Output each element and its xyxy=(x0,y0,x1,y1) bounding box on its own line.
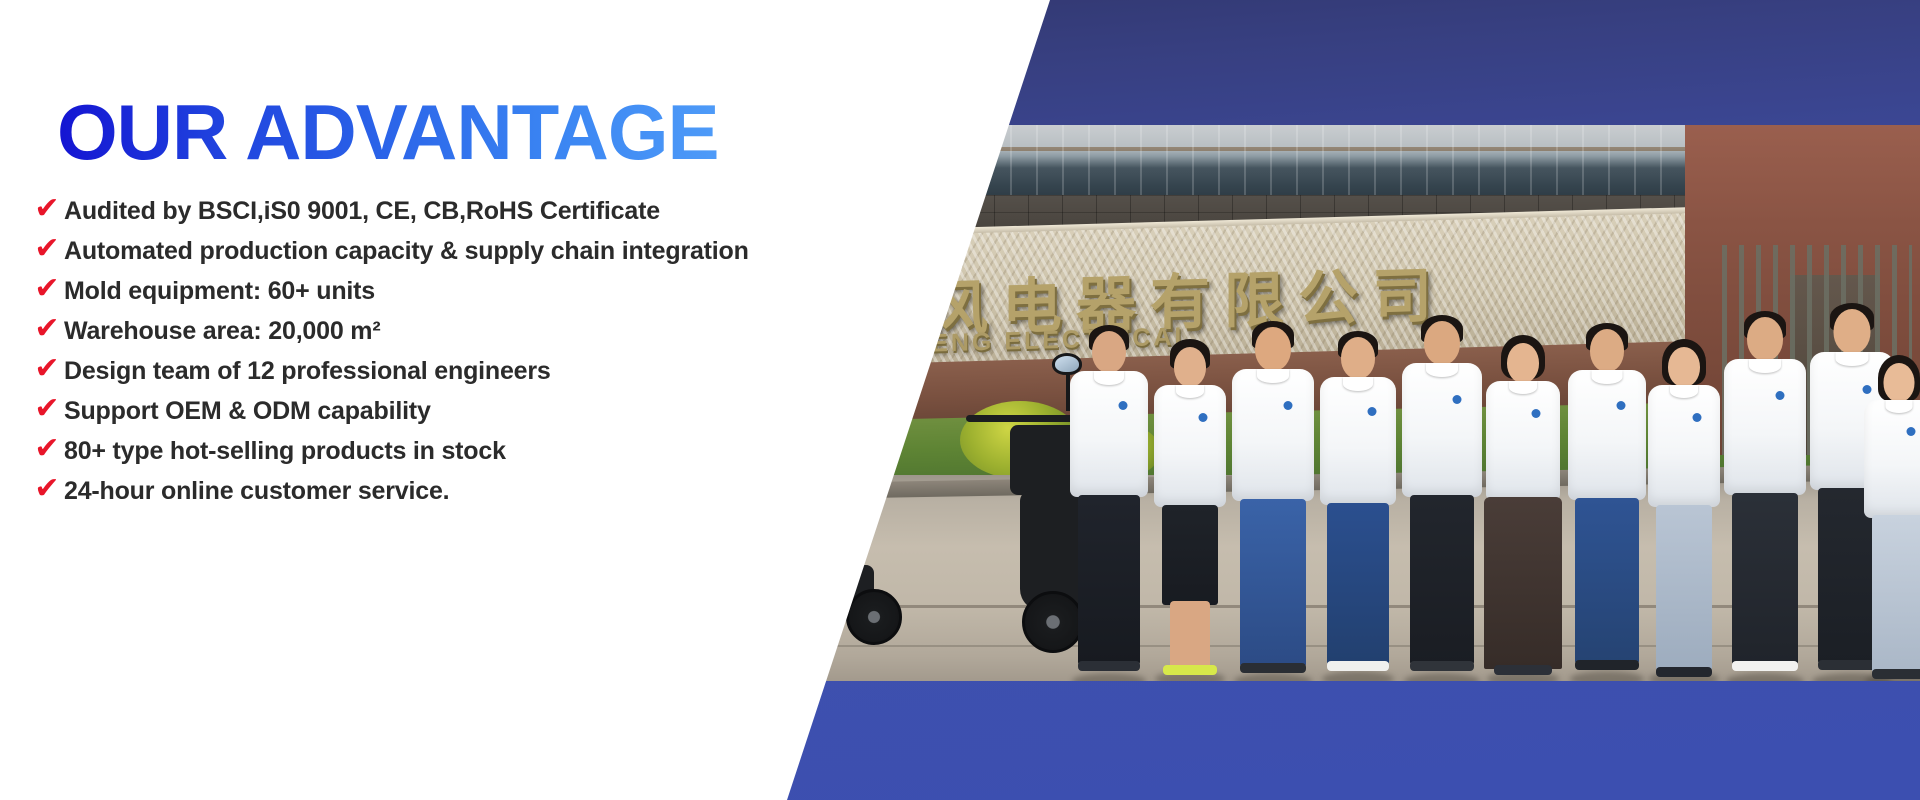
list-item: ✔ Design team of 12 professional enginee… xyxy=(30,353,830,391)
person-shirt xyxy=(1864,400,1920,518)
list-item: ✔ Audited by BSCI,iS0 9001, CE, CB,RoHS … xyxy=(30,193,830,231)
list-item: ✔ Support OEM & ODM capability xyxy=(30,393,830,431)
person-shoes xyxy=(1078,661,1140,671)
check-icon: ✔ xyxy=(30,432,64,466)
person-collar xyxy=(1886,400,1913,413)
person-collar xyxy=(1094,371,1124,385)
person-4 xyxy=(1320,331,1396,681)
person-head xyxy=(1668,347,1700,387)
list-item: ✔ 24-hour online customer service. xyxy=(30,473,830,511)
person-shadow xyxy=(1322,671,1394,681)
check-icon: ✔ xyxy=(30,312,64,346)
person-shadow xyxy=(1072,673,1146,681)
person-shirt xyxy=(1724,359,1806,495)
person-jeans xyxy=(1575,498,1639,664)
person-light-trousers xyxy=(1872,515,1920,673)
person-bare-legs xyxy=(1170,601,1210,669)
person-shirt xyxy=(1402,363,1482,497)
check-icon: ✔ xyxy=(30,352,64,386)
advantage-text: Automated production capacity & supply c… xyxy=(64,233,749,269)
person-shirt xyxy=(1070,371,1148,497)
person-shoes xyxy=(1163,665,1217,675)
advantage-text: 80+ type hot-selling products in stock xyxy=(64,433,506,469)
person-jeans xyxy=(1327,503,1389,665)
advantage-text: Warehouse area: 20,000 m² xyxy=(64,313,380,349)
person-collar xyxy=(1592,370,1623,384)
person-shoes xyxy=(1575,660,1639,670)
advantage-text: Audited by BSCI,iS0 9001, CE, CB,RoHS Ce… xyxy=(64,193,660,229)
person-long-skirt xyxy=(1484,497,1562,669)
check-icon: ✔ xyxy=(30,192,64,226)
advantage-text: Support OEM & ODM capability xyxy=(64,393,431,429)
advantage-text: Design team of 12 professional engineers xyxy=(64,353,551,389)
person-head xyxy=(1834,309,1871,354)
person-shoes xyxy=(1656,667,1712,677)
person-collar xyxy=(1509,381,1537,394)
list-item: ✔ Warehouse area: 20,000 m² xyxy=(30,313,830,351)
person-shoes xyxy=(1494,665,1552,675)
person-7 xyxy=(1568,323,1646,681)
person-collar xyxy=(1257,369,1289,383)
person-shirt-logo xyxy=(1284,401,1293,410)
person-shirt xyxy=(1320,377,1396,505)
person-shirt-logo xyxy=(1532,409,1541,418)
list-item: ✔ Automated production capacity & supply… xyxy=(30,233,830,271)
person-shoes xyxy=(1240,663,1306,673)
person-collar xyxy=(1670,385,1698,398)
person-shadow xyxy=(1570,671,1644,681)
page-title: OUR ADVANTAGE xyxy=(57,93,719,171)
person-shadow xyxy=(1404,673,1480,681)
person-head xyxy=(1590,329,1624,372)
person-1 xyxy=(1070,325,1148,681)
person-head xyxy=(1424,321,1460,365)
person-2 xyxy=(1154,339,1226,681)
person-head xyxy=(1507,343,1539,383)
person-head xyxy=(1255,327,1291,371)
person-shirt xyxy=(1568,370,1646,500)
advantages-list: ✔ Audited by BSCI,iS0 9001, CE, CB,RoHS … xyxy=(30,193,830,513)
person-shoes xyxy=(1327,661,1389,671)
advantage-text: 24-hour online customer service. xyxy=(64,473,449,509)
person-shirt-logo xyxy=(1776,391,1785,400)
person-shirt-logo xyxy=(1199,413,1208,422)
person-head xyxy=(1174,347,1206,387)
person-shirt xyxy=(1648,385,1720,507)
person-shadow xyxy=(1726,673,1804,681)
person-collar xyxy=(1176,385,1204,398)
list-item: ✔ Mold equipment: 60+ units xyxy=(30,273,830,311)
person-shirt-logo xyxy=(1693,413,1702,422)
person-head xyxy=(1747,317,1783,361)
person-head xyxy=(1092,331,1126,373)
person-trousers xyxy=(1732,493,1798,665)
person-collar xyxy=(1343,377,1373,391)
person-shirt-logo xyxy=(1907,427,1916,436)
person-light-trousers xyxy=(1656,505,1712,671)
person-jeans xyxy=(1240,499,1306,667)
list-item: ✔ 80+ type hot-selling products in stock xyxy=(30,433,830,471)
check-icon: ✔ xyxy=(30,392,64,426)
our-advantage-banner: 浙江奥风电器有限公司 ZHEJIANG AOFENG ELECTRICAL xyxy=(0,0,1920,800)
person-head xyxy=(1341,337,1375,379)
person-shirt xyxy=(1154,385,1226,507)
check-icon: ✔ xyxy=(30,472,64,506)
person-6 xyxy=(1486,335,1560,681)
person-trousers xyxy=(1410,495,1474,665)
person-trousers xyxy=(1078,495,1140,665)
person-5 xyxy=(1402,315,1482,681)
person-shadow xyxy=(1234,673,1312,681)
person-shirt-logo xyxy=(1368,407,1377,416)
advantage-text: Mold equipment: 60+ units xyxy=(64,273,375,309)
content-column: OUR ADVANTAGE ✔ Audited by BSCI,iS0 9001… xyxy=(0,0,1000,800)
person-11 xyxy=(1864,355,1920,681)
person-shirt xyxy=(1486,381,1560,501)
person-shirt-logo xyxy=(1119,401,1128,410)
person-shoes xyxy=(1872,669,1920,679)
person-shoes xyxy=(1732,661,1798,671)
person-shoes xyxy=(1410,661,1474,671)
person-collar xyxy=(1426,363,1458,377)
person-collar xyxy=(1749,359,1781,373)
person-shorts xyxy=(1162,505,1218,605)
person-head xyxy=(1884,363,1915,402)
check-icon: ✔ xyxy=(30,272,64,306)
person-3 xyxy=(1232,321,1314,681)
person-shirt xyxy=(1232,369,1314,501)
person-8 xyxy=(1648,339,1720,681)
person-shirt-logo xyxy=(1617,401,1626,410)
check-icon: ✔ xyxy=(30,232,64,266)
person-9 xyxy=(1724,311,1806,681)
person-shirt-logo xyxy=(1453,395,1462,404)
